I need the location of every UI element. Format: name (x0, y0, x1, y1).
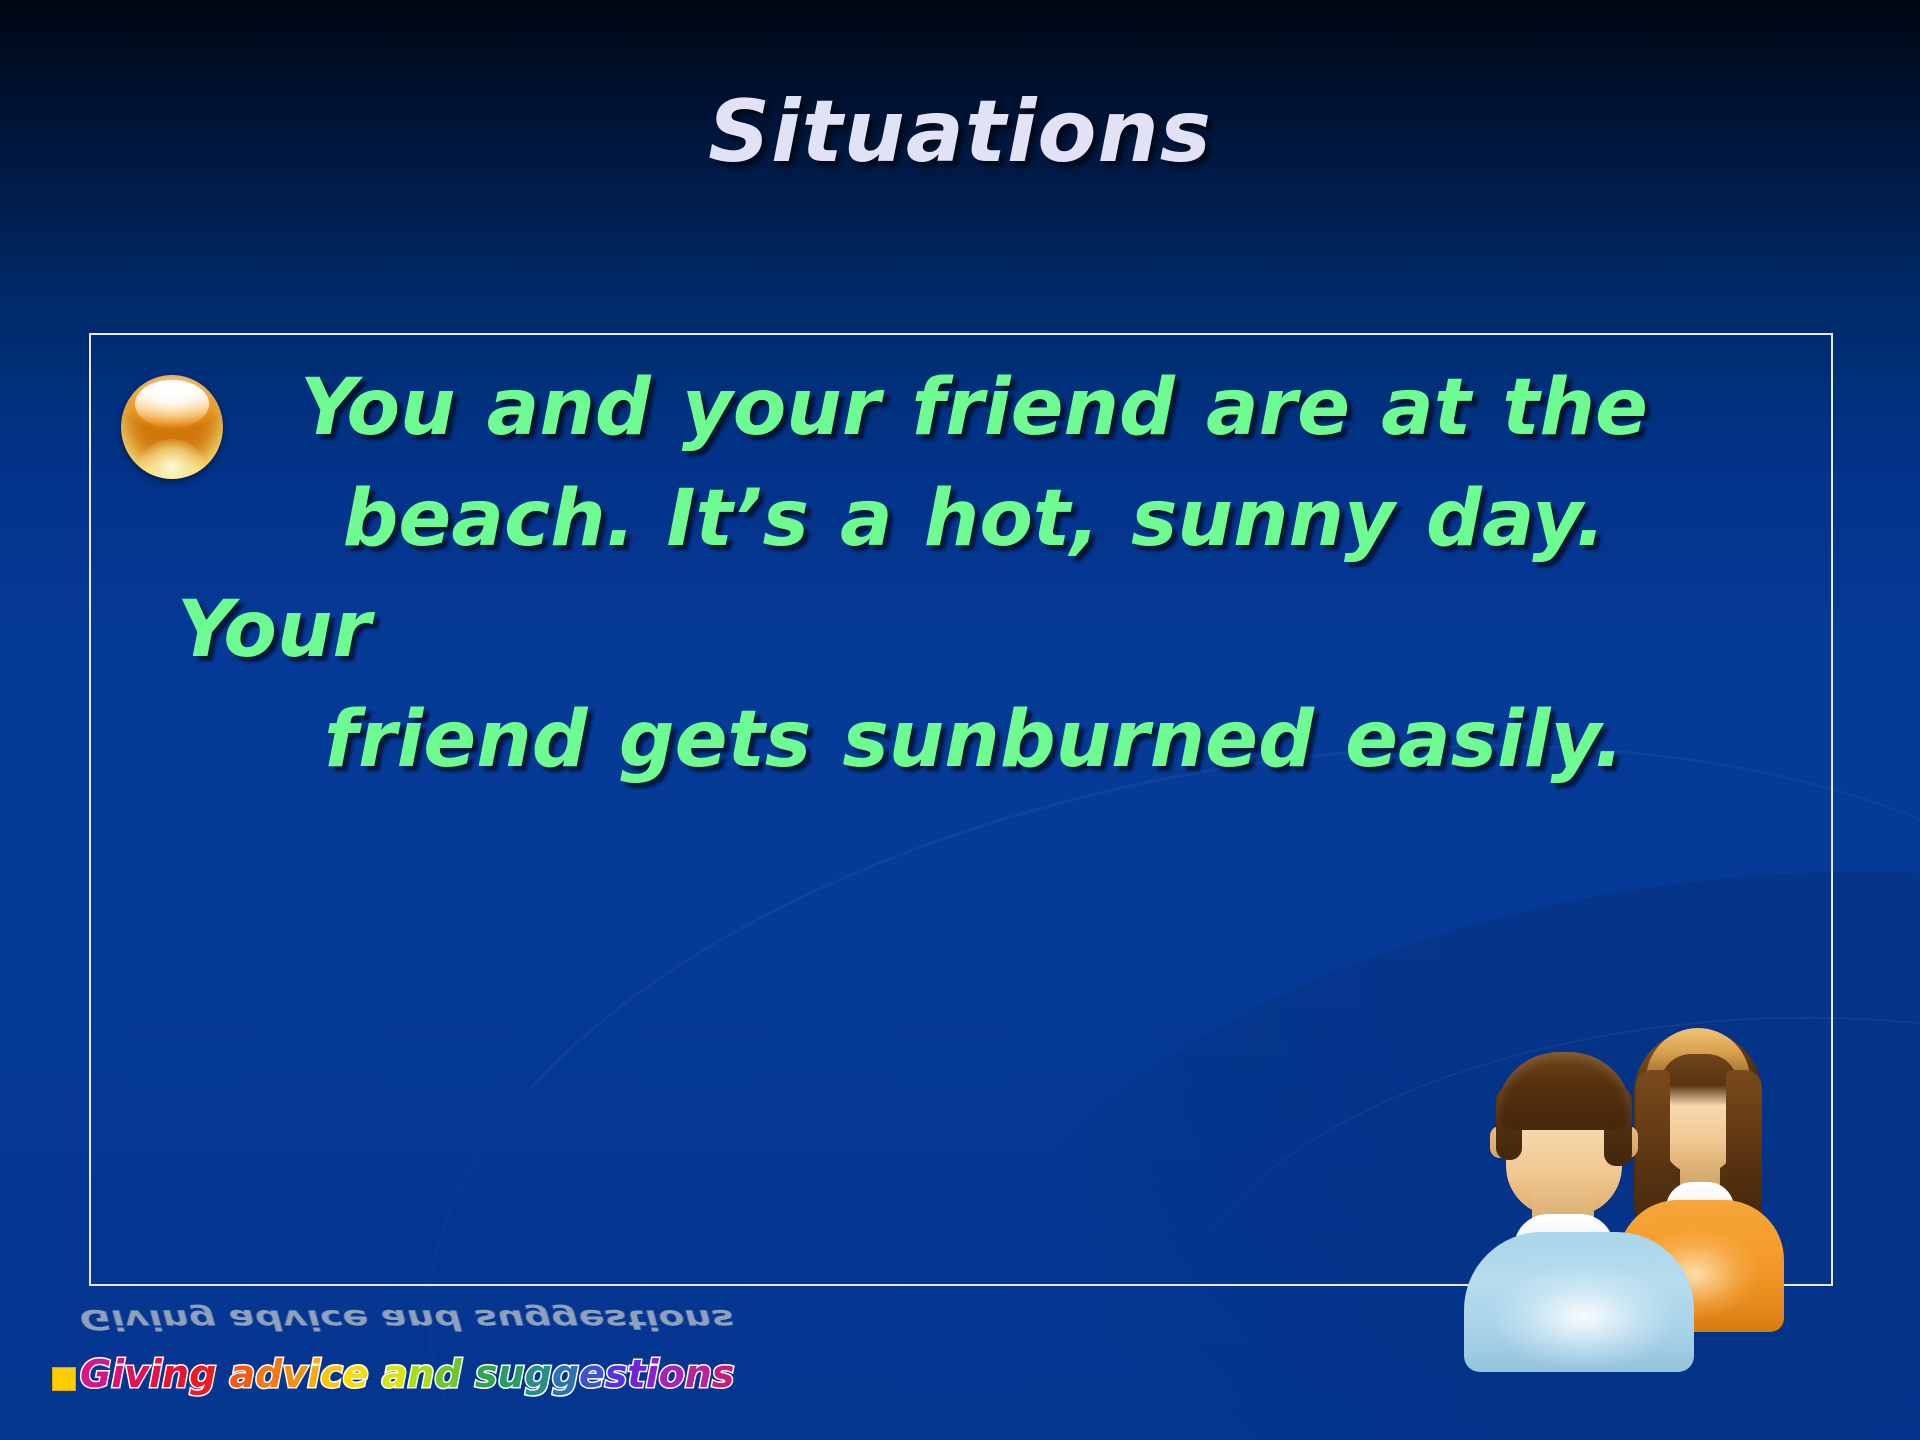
footer-letter-18: s (475, 1352, 498, 1396)
slide-title: Situations (0, 86, 1920, 179)
footer-letter-16: d (434, 1352, 461, 1396)
footer-letter-17 (462, 1352, 475, 1396)
footer-letter-6 (216, 1352, 229, 1396)
bullet-line-2: beach. It’s a hot, sunny day. (159, 464, 1789, 575)
footer-letter-26: o (659, 1352, 685, 1396)
slide: Situations You and your friend are at th… (0, 0, 1920, 1440)
footer-letter-7: a (230, 1352, 256, 1396)
footer-text-reflection: Giving advice and suggestions (80, 1306, 734, 1333)
footer-letter-20: g (525, 1352, 552, 1396)
footer-letter-28: s (712, 1352, 735, 1396)
bullet-line-3: Your (159, 575, 1789, 686)
footer-letter-22: e (579, 1352, 605, 1396)
bullet-line-4: friend gets sunburned easily. (159, 685, 1789, 796)
footer-letter-1: i (111, 1352, 124, 1396)
footer-letter-15: n (407, 1352, 434, 1396)
footer-letter-21: g (552, 1352, 579, 1396)
footer-letter-27: n (685, 1352, 712, 1396)
footer-letter-11: c (320, 1352, 343, 1396)
footer-text-wrap: Giving advice and suggestions Giving adv… (80, 1353, 734, 1413)
man-avatar (1470, 1052, 1700, 1352)
footer-square-bullet-icon (52, 1367, 76, 1391)
footer-letter-0: G (80, 1352, 111, 1396)
slide-footer: Giving advice and suggestions Giving adv… (52, 1348, 734, 1418)
footer-letter-12: e (343, 1352, 369, 1396)
footer-letter-10: i (307, 1352, 320, 1396)
footer-letter-23: s (605, 1352, 628, 1396)
footer-letter-8: d (255, 1352, 282, 1396)
footer-letter-5: g (189, 1352, 216, 1396)
man-hair-top (1496, 1052, 1632, 1130)
footer-letter-14: a (382, 1352, 408, 1396)
footer-letter-9: v (282, 1352, 307, 1396)
bullet-paragraph: You and your friend are at the beach. It… (159, 353, 1789, 796)
footer-letter-24: t (627, 1352, 645, 1396)
footer-letter-13 (369, 1352, 382, 1396)
footer-letter-19: u (498, 1352, 525, 1396)
footer-letter-2: v (124, 1352, 149, 1396)
footer-title-text: Giving advice and suggestions (80, 1353, 734, 1393)
two-people-avatar-graphic (1470, 1022, 1830, 1352)
footer-letter-25: i (646, 1352, 659, 1396)
footer-letter-3: i (149, 1352, 162, 1396)
bullet-line-1: You and your friend are at the (159, 353, 1789, 464)
footer-letter-4: n (162, 1352, 189, 1396)
man-torso (1464, 1232, 1694, 1372)
